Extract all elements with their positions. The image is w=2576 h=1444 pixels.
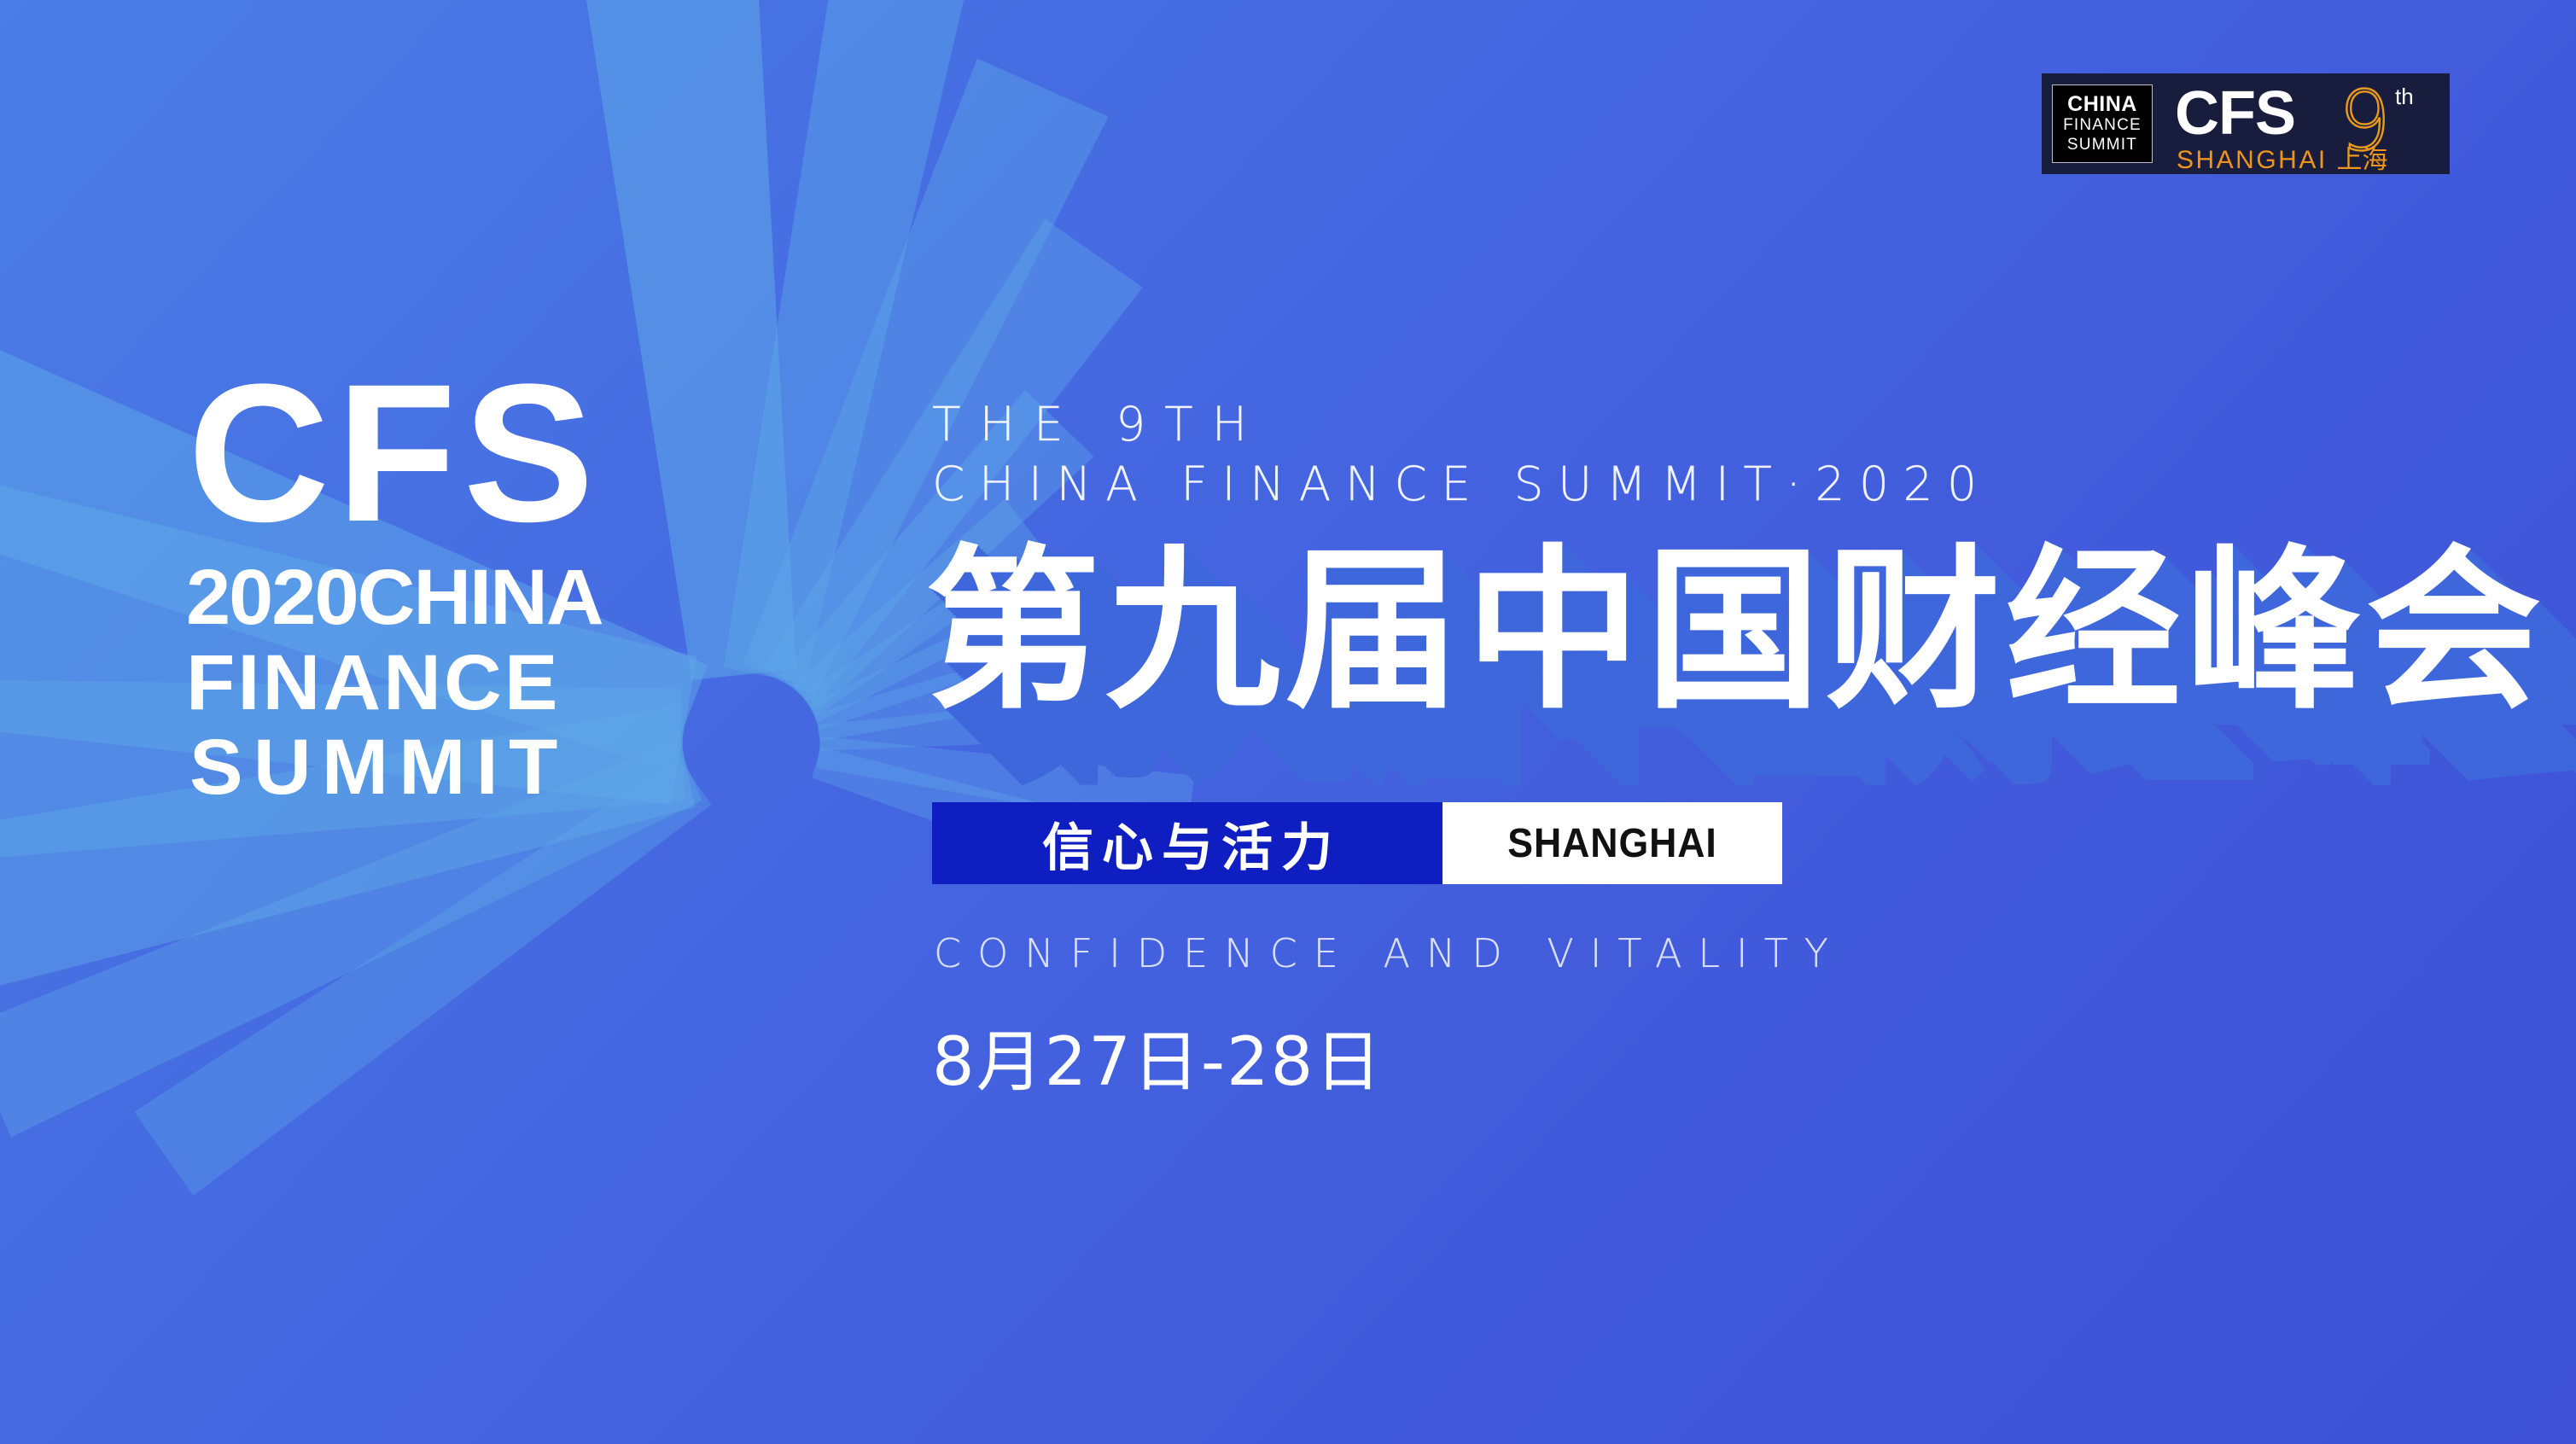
badge-inner-box: CHINA FINANCE SUMMIT xyxy=(2052,84,2153,163)
slogan-bar: 信心与活力 SHANGHAI xyxy=(932,802,1782,884)
badge-line-china: CHINA xyxy=(2067,93,2137,116)
badge-city-cn: 上海 xyxy=(2337,146,2388,174)
eyebrow-china-finance-summit-2020: CHINA FINANCE SUMMIT·2020 xyxy=(932,457,1990,511)
slogan-city-label: SHANGHAI xyxy=(1507,820,1717,867)
cfs-line-summit: SUMMIT xyxy=(189,728,796,808)
page-title: 第九届中国财经峰会 xyxy=(925,544,2546,719)
eyebrow-the-9th: THE 9TH xyxy=(932,397,1266,451)
badge-edition-suffix: th xyxy=(2395,84,2414,110)
badge-acronym: CFS xyxy=(2175,83,2295,144)
badge-city-en: SHANGHAI xyxy=(2177,146,2328,174)
poster-canvas: CFS 2020CHINA FINANCE SUMMIT THE 9TH CHI… xyxy=(0,0,2576,1444)
badge-line-summit: SUMMIT xyxy=(2067,136,2137,154)
badge-city: SHANGHAI 上海 xyxy=(2177,138,2388,176)
main-content-column: THE 9TH CHINA FINANCE SUMMIT·2020 第九届中国财… xyxy=(932,0,2468,1444)
cfs-line-finance: FINANCE xyxy=(186,643,796,724)
slogan-english: CONFIDENCE AND VITALITY xyxy=(934,930,1845,976)
slogan-city-badge: SHANGHAI xyxy=(1442,802,1782,884)
cfs-brand-badge: CHINA FINANCE SUMMIT CFS 9 th SHANGHAI 上… xyxy=(2042,73,2450,174)
ray-16 xyxy=(134,759,711,1196)
badge-right-group: CFS 9 th SHANGHAI 上海 xyxy=(2153,73,2441,174)
slogan-chinese: 信心与活力 xyxy=(932,802,1442,884)
cfs-acronym: CFS xyxy=(188,369,784,538)
event-date: 8月27日-28日 xyxy=(932,1009,1383,1104)
cfs-line-2020china: 2020CHINA xyxy=(186,558,796,638)
cfs-wordmark: CFS 2020CHINA FINANCE SUMMIT xyxy=(186,369,784,808)
badge-line-finance: FINANCE xyxy=(2063,116,2142,135)
